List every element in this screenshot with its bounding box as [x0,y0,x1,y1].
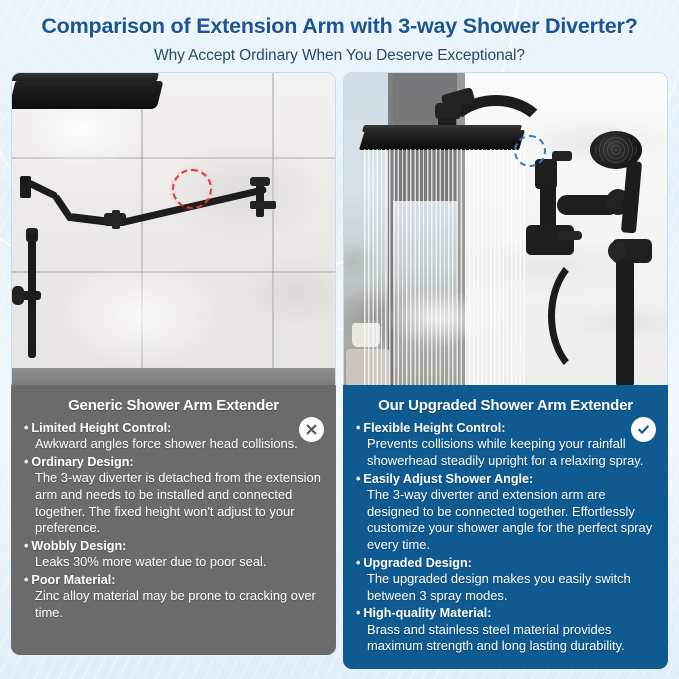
bullet-title: •Limited Height Control: [24,420,323,436]
bullet-title: •Flexible Height Control: [356,420,655,436]
list-item: •High-quality Material: Brass and stainl… [356,605,655,655]
bullet-title: •High-quality Material: [356,605,655,621]
list-item: •Limited Height Control: Awkward angles … [24,420,323,453]
bullet-title-text: Easily Adjust Shower Angle: [363,472,533,486]
bullet-body: Brass and stainless steel material provi… [356,622,655,656]
bullet-body: Zinc alloy material may be prone to crac… [24,588,323,622]
bullet-title: •Upgraded Design: [356,555,655,571]
bullet-title-text: Upgraded Design: [363,556,471,570]
upgraded-bullet-list: •Flexible Height Control: Prevents colli… [356,420,655,655]
bullet-dot: • [356,421,360,435]
bullet-dot: • [356,606,360,620]
bullet-title-text: Ordinary Design: [31,455,133,469]
shower-head-nut [250,201,276,209]
list-item: •Ordinary Design: The 3-way diverter is … [24,454,323,537]
list-item: •Poor Material: Zinc alloy material may … [24,572,323,622]
diverter-lever [556,231,582,240]
bullet-dot: • [24,539,28,553]
list-item: •Easily Adjust Shower Angle: The 3-way d… [356,471,655,554]
rectangular-shower-head-lip [11,73,159,81]
bullet-title: •Easily Adjust Shower Angle: [356,471,655,487]
page-title: Comparison of Extension Arm with 3-way S… [0,0,679,38]
generic-bullet-list: •Limited Height Control: Awkward angles … [24,420,323,622]
bullet-title-text: Wobbly Design: [31,539,126,553]
bullet-body: Leaks 30% more water due to poor seal. [24,554,323,571]
close-icon [299,417,324,442]
water-mist [364,273,514,385]
bullet-title: •Wobbly Design: [24,538,323,554]
diverter-lug [552,151,572,161]
list-item: •Upgraded Design: The upgraded design ma… [356,555,655,605]
handheld-cradle-knob [608,241,626,261]
floor-strip [12,368,335,385]
bullet-title-text: Flexible Height Control: [363,421,505,435]
bullet-body: The upgraded design makes you easily swi… [356,571,655,605]
bullet-title-text: High-quality Material: [363,606,491,620]
bullet-dot: • [356,472,360,486]
shower-head-stem-cap [250,177,270,186]
bullet-body: Awkward angles force shower head collisi… [24,436,323,453]
bullet-title-text: Limited Height Control: [31,421,171,435]
list-item: •Wobbly Design: Leaks 30% more water due… [24,538,323,571]
bullet-dot: • [24,421,28,435]
generic-text-panel: Generic Shower Arm Extender •Limited Hei… [11,385,336,655]
bullet-body: The 3-way diverter and extension arm are… [356,487,655,554]
page-subtitle: Why Accept Ordinary When You Deserve Exc… [0,38,679,65]
red-dashed-circle-icon [172,169,212,209]
diverter-valve-body [526,225,574,255]
bullet-title: •Ordinary Design: [24,454,323,470]
rectangular-shower-head [11,81,163,109]
bullet-title: •Poor Material: [24,572,323,588]
upgraded-panel-heading: Our Upgraded Shower Arm Extender [356,395,655,420]
bullet-body: The 3-way diverter is detached from the … [24,470,323,537]
shower-hose-vertical [616,259,634,385]
upgraded-text-panel: Our Upgraded Shower Arm Extender •Flexib… [343,385,668,669]
bullet-dot: • [24,573,28,587]
upgraded-product-photo [343,72,668,385]
shower-head-stem [256,181,264,217]
bullet-dot: • [24,455,28,469]
bullet-dot: • [356,556,360,570]
rainfall-shower-head [359,130,525,150]
bullet-body: Prevents collisions while keeping your r… [356,436,655,470]
comparison-column-upgraded: Our Upgraded Shower Arm Extender •Flexib… [343,72,668,669]
check-icon [631,417,656,442]
list-item: •Flexible Height Control: Prevents colli… [356,420,655,470]
arm-joint-collar [112,210,120,229]
wand-bracket-knob [12,286,24,305]
blue-dashed-circle-icon [514,135,546,167]
tiled-wall-background [12,73,335,385]
generic-product-photo [11,72,336,385]
header: Comparison of Extension Arm with 3-way S… [0,0,679,68]
bullet-title-text: Poor Material: [31,573,115,587]
rainfall-head-ball-joint [435,103,461,119]
comparison-column-generic: Generic Shower Arm Extender •Limited Hei… [11,72,336,655]
generic-panel-heading: Generic Shower Arm Extender [24,395,323,420]
